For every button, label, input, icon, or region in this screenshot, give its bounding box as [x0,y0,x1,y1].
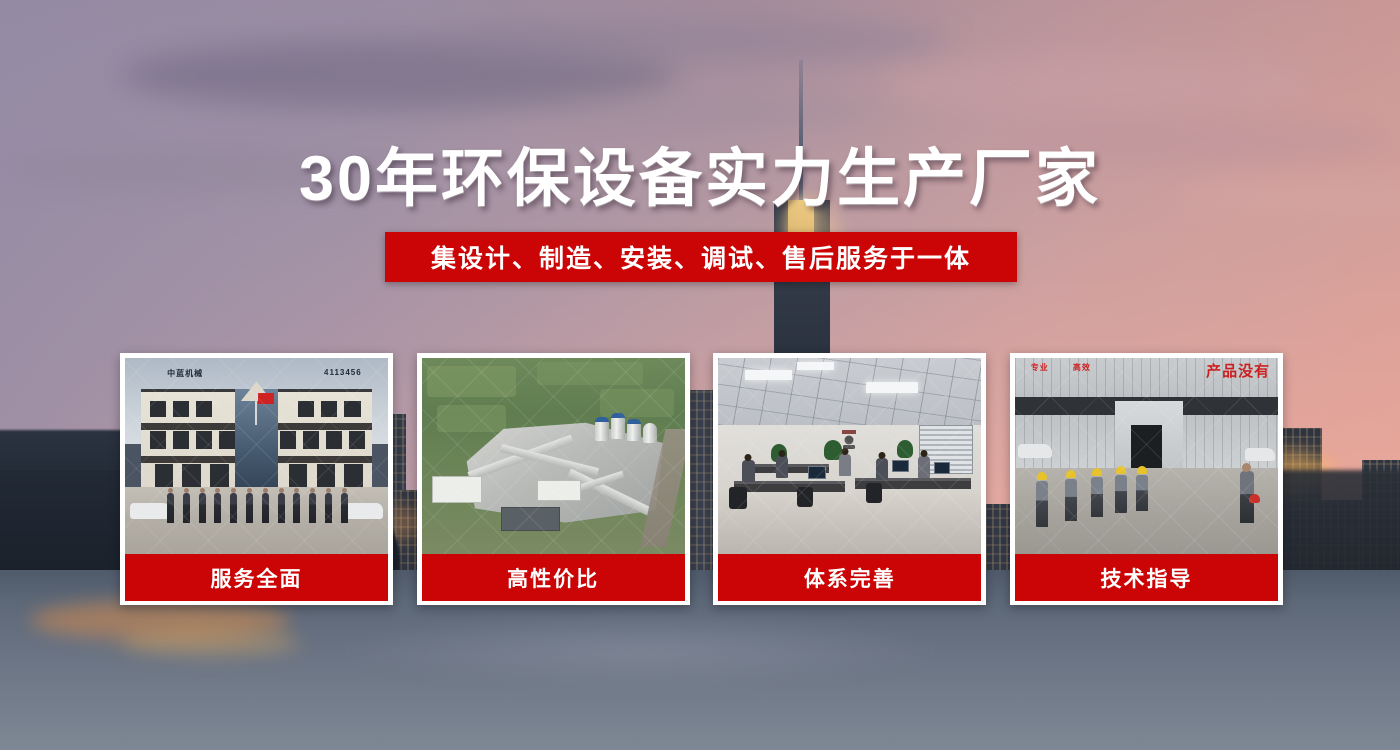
feature-card[interactable]: 高性价比 [417,353,690,605]
banner-subtitle-bar: 集设计、制造、安装、调试、售后服务于一体 [385,232,1017,282]
cloud-shape [430,18,950,64]
card-caption-bar: 高性价比 [422,554,685,601]
card-caption-bar: 体系完善 [718,554,981,601]
banner-headline: 30年环保设备实力生产厂家 [0,128,1400,219]
banner-stage: 30年环保设备实力生产厂家 集设计、制造、安装、调试、售后服务于一体 [0,0,1400,750]
factory-workers-training-photo: 专业 高效 产品没有 [1015,358,1278,554]
factory-slogan-text: 高效 [1073,362,1091,373]
feature-card[interactable]: 中蓝机械 4113456 服务全面 [120,353,393,605]
card-caption-text: 体系完善 [804,563,896,593]
banner-subtitle-text: 集设计、制造、安装、调试、售后服务于一体 [431,239,971,275]
aerial-production-plant-photo [422,358,685,554]
factory-slogan-text: 产品没有 [1206,360,1270,381]
cloud-shape [880,55,1310,113]
cloud-shape [560,95,890,129]
water-reflection [330,610,950,690]
card-caption-text: 高性价比 [507,563,599,593]
card-caption-text: 服务全面 [211,563,303,593]
card-caption-bar: 技术指导 [1015,554,1278,601]
building-phone-text: 4113456 [324,368,362,377]
company-office-building-photo: 中蓝机械 4113456 [125,358,388,554]
feature-card[interactable]: 专业 高效 产品没有 技术指导 [1010,353,1283,605]
building-sign-text: 中蓝机械 [167,368,203,379]
office-interior-staff-photo [718,358,981,554]
factory-slogan-text: 专业 [1031,362,1049,373]
card-caption-bar: 服务全面 [125,554,388,601]
feature-card-row: 中蓝机械 4113456 服务全面 [120,353,1283,605]
feature-card[interactable]: 体系完善 [713,353,986,605]
card-caption-text: 技术指导 [1100,563,1192,593]
